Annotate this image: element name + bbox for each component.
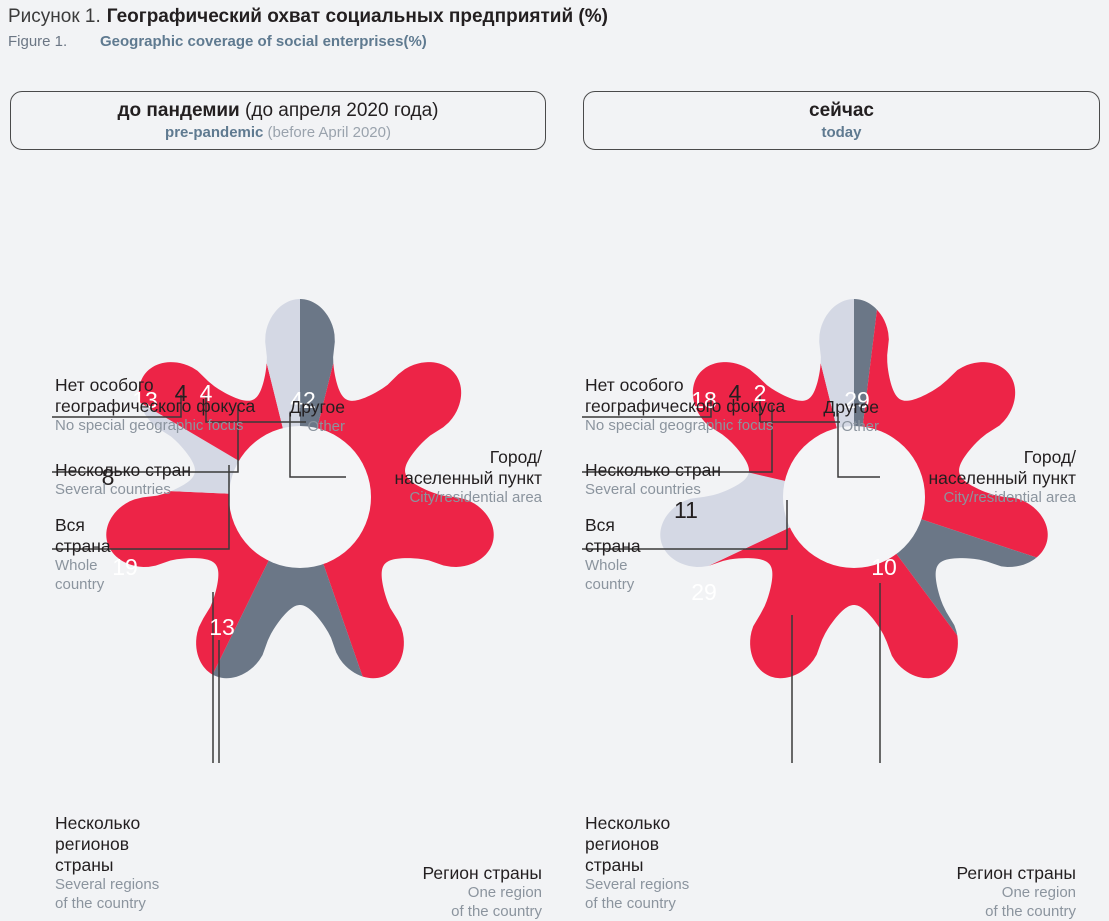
panel-header-ru-bold-pre-pandemic: до пандемии [117, 100, 239, 121]
figure-title: Рисунок 1. Географический охват социальн… [8, 6, 1098, 50]
label-whole-country-today: Вся страна Whole country [585, 515, 641, 594]
label-no-focus-ru: Нет особого географического фокуса [55, 375, 255, 417]
label-one-region-ru: Регион страны [330, 863, 542, 884]
label-several-regions-ru: Несколько регионов страны [55, 813, 159, 876]
label-whole-country-en: Whole country [55, 557, 111, 594]
panel-header-pre-pandemic: до пандемии (до апреля 2020 года) pre-pa… [10, 91, 546, 150]
label-no-focus-ru: Нет особого географического фокуса [585, 375, 785, 417]
label-several-countries-ru: Несколько стран [585, 460, 721, 481]
label-several-countries-pre-pandemic: Несколько стран Several countries [55, 460, 191, 500]
label-city-pre-pandemic: Город/ населенный пункт City/residential… [330, 447, 542, 508]
label-whole-country-ru: Вся страна [55, 515, 111, 557]
label-other-ru: Другое [779, 397, 879, 418]
label-several-regions-pre-pandemic: Несколько регионов страны Several region… [55, 813, 159, 913]
figure-number-en: Figure 1. [8, 33, 100, 50]
slice-value-whole_country: 11 [674, 497, 698, 523]
label-one-region-today: Регион страны One region of the country [864, 863, 1076, 921]
label-several-countries-ru: Несколько стран [55, 460, 191, 481]
chart-panel-pre-pandemic: 44213198134 Нет особого географического … [0, 175, 555, 763]
label-several-countries-en: Several countries [585, 481, 721, 500]
label-whole-country-en: Whole country [585, 557, 641, 594]
label-no-focus-en: No special geographic focus [585, 417, 785, 436]
figure-number-ru: Рисунок 1. [8, 6, 101, 28]
slice-value-several_regions: 29 [691, 579, 717, 605]
slice-value-one_region: 10 [871, 554, 897, 580]
label-several-regions-en: Several regions of the country [585, 876, 689, 913]
panel-header-ru-today: сейчас [809, 99, 874, 122]
label-no-focus-today: Нет особого географического фокуса No sp… [585, 375, 785, 436]
slice-value-several_regions: 19 [112, 554, 138, 580]
label-other-en: Other [779, 418, 879, 437]
leader-line-several-regions [52, 592, 213, 763]
chart-panel-today: 229102911184 Нет особого географического… [554, 175, 1109, 763]
label-one-region-pre-pandemic: Регион страны One region of the country [330, 863, 542, 921]
label-several-countries-en: Several countries [55, 481, 191, 500]
figure-title-ru-row: Рисунок 1. Географический охват социальн… [8, 6, 1098, 28]
label-one-region-en: One region of the country [864, 884, 1076, 921]
panel-header-en-today: today [821, 123, 861, 142]
label-whole-country-ru: Вся страна [585, 515, 641, 557]
figure-title-en-row: Figure 1. Geographic coverage of social … [8, 33, 1098, 50]
panel-header-en-bold-pre-pandemic: pre-pandemic [165, 124, 263, 141]
figure-title-en: Geographic coverage of social enterprise… [100, 33, 427, 50]
slice-value-one_region: 13 [209, 614, 235, 640]
panel-header-ru-bold-today: сейчас [809, 100, 874, 121]
label-no-focus-pre-pandemic: Нет особого географического фокуса No sp… [55, 375, 255, 436]
label-one-region-en: One region of the country [330, 884, 542, 921]
label-several-countries-today: Несколько стран Several countries [585, 460, 721, 500]
label-other-ru: Другое [245, 397, 345, 418]
label-city-en: City/residential area [330, 489, 542, 508]
label-one-region-ru: Регион страны [864, 863, 1076, 884]
panel-header-ru-pre-pandemic: до пандемии (до апреля 2020 года) [117, 99, 438, 122]
label-city-en: City/residential area [864, 489, 1076, 508]
panel-header-en-rest-pre-pandemic: (before April 2020) [263, 124, 391, 141]
panel-header-ru-rest-pre-pandemic: (до апреля 2020 года) [240, 100, 439, 121]
label-city-today: Город/ населенный пункт City/residential… [864, 447, 1076, 508]
label-other-today: Другое Other [779, 397, 879, 437]
label-other-en: Other [245, 418, 345, 437]
figure-title-ru: Географический охват социальных предприя… [107, 6, 608, 28]
label-city-ru: Город/ населенный пункт [330, 447, 542, 489]
label-several-regions-today: Несколько регионов страны Several region… [585, 813, 689, 913]
panel-header-en-bold-today: today [821, 124, 861, 141]
panel-header-today: сейчас today [583, 91, 1100, 150]
panel-header-en-pre-pandemic: pre-pandemic (before April 2020) [165, 123, 391, 142]
label-city-ru: Город/ населенный пункт [864, 447, 1076, 489]
label-several-regions-en: Several regions of the country [55, 876, 159, 913]
label-several-regions-ru: Несколько регионов страны [585, 813, 689, 876]
label-other-pre-pandemic: Другое Other [245, 397, 345, 437]
label-whole-country-pre-pandemic: Вся страна Whole country [55, 515, 111, 594]
label-no-focus-en: No special geographic focus [55, 417, 255, 436]
